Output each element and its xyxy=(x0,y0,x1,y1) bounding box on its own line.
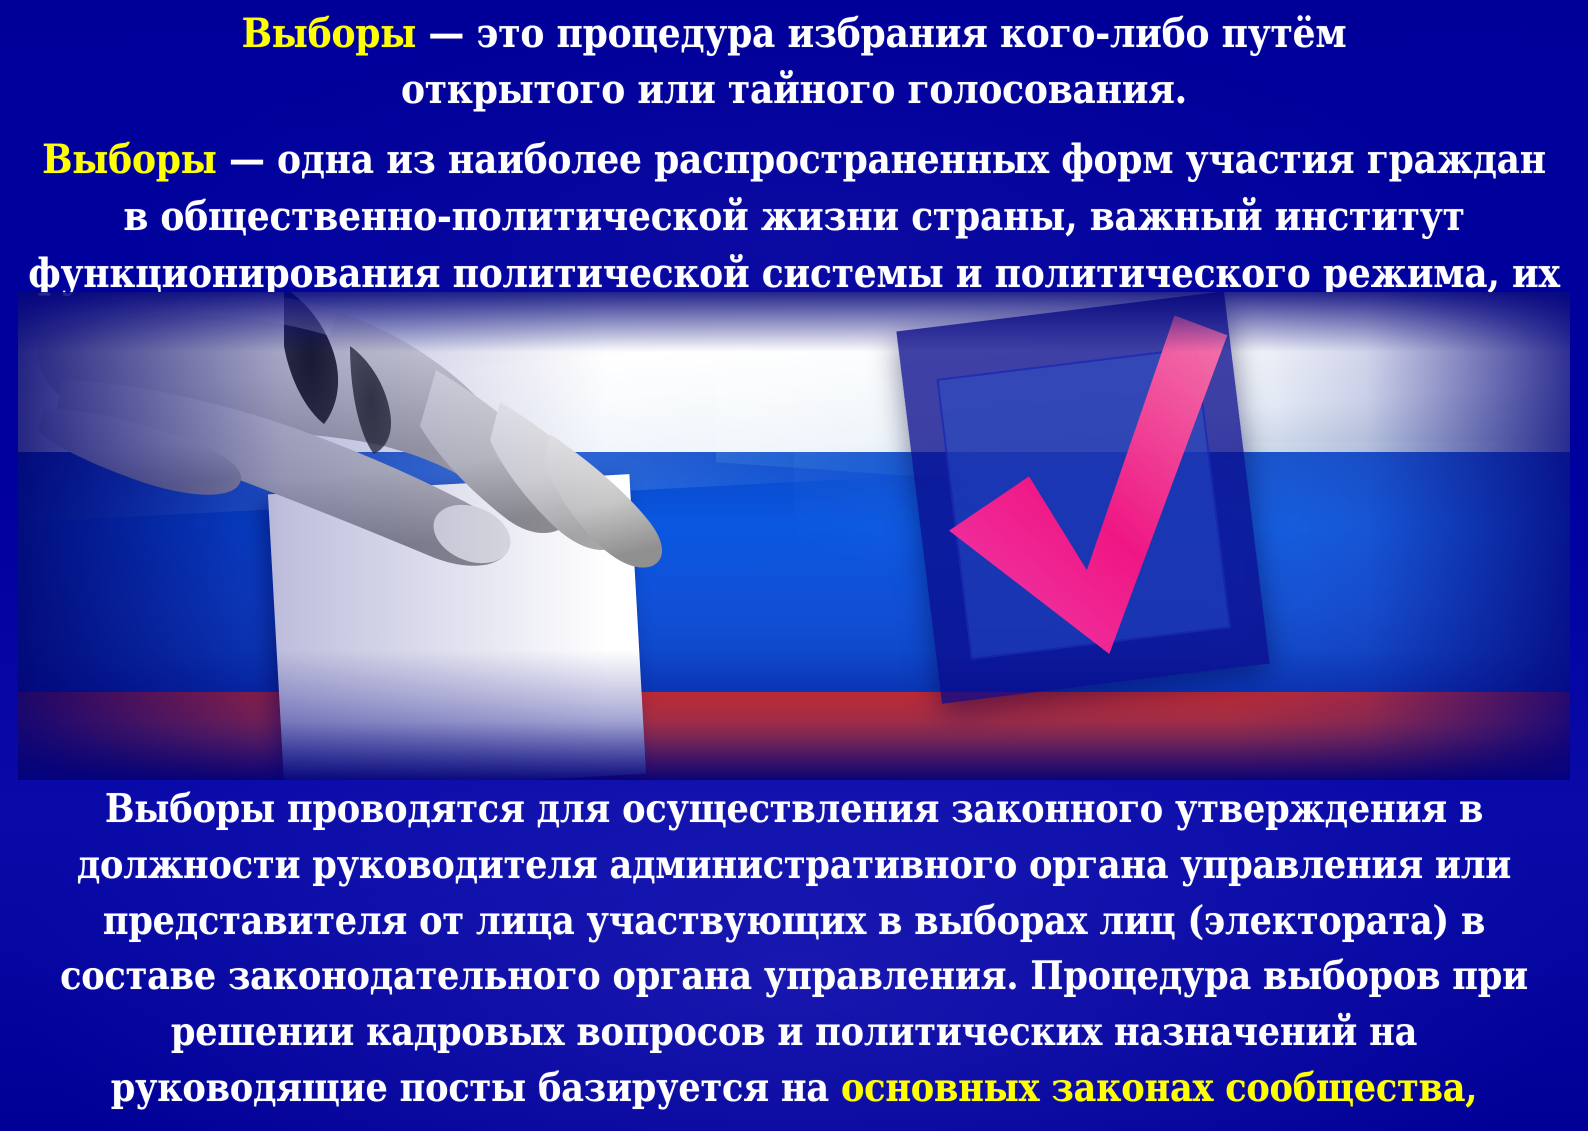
highlight-basic-laws: основных законах сообщества, xyxy=(841,1065,1477,1111)
paragraph-3-text-part-1: Выборы проводятся для осуществления зако… xyxy=(60,786,1528,1111)
highlight-vybory-2: Выборы xyxy=(42,136,217,183)
ballot-checkbox xyxy=(896,292,1269,704)
election-illustration xyxy=(18,292,1570,780)
checkmark-icon xyxy=(907,299,1268,695)
paragraph-1-text: — это процедура избрания кого-либо путём… xyxy=(401,10,1346,113)
paragraph-procedure: Выборы проводятся для осуществления зако… xyxy=(0,782,1588,1131)
presentation-slide: Выборы — это процедура избрания кого-либ… xyxy=(0,0,1588,1131)
paragraph-3-text-part-2: применяющего эту процедуру xyxy=(483,1121,1104,1131)
highlight-vybory-1: Выборы xyxy=(242,10,417,57)
photo-vignette-bottom xyxy=(18,650,1570,780)
paragraph-definition: Выборы — это процедура избрания кого-либ… xyxy=(0,6,1588,118)
photo-vignette-top xyxy=(18,292,1570,352)
